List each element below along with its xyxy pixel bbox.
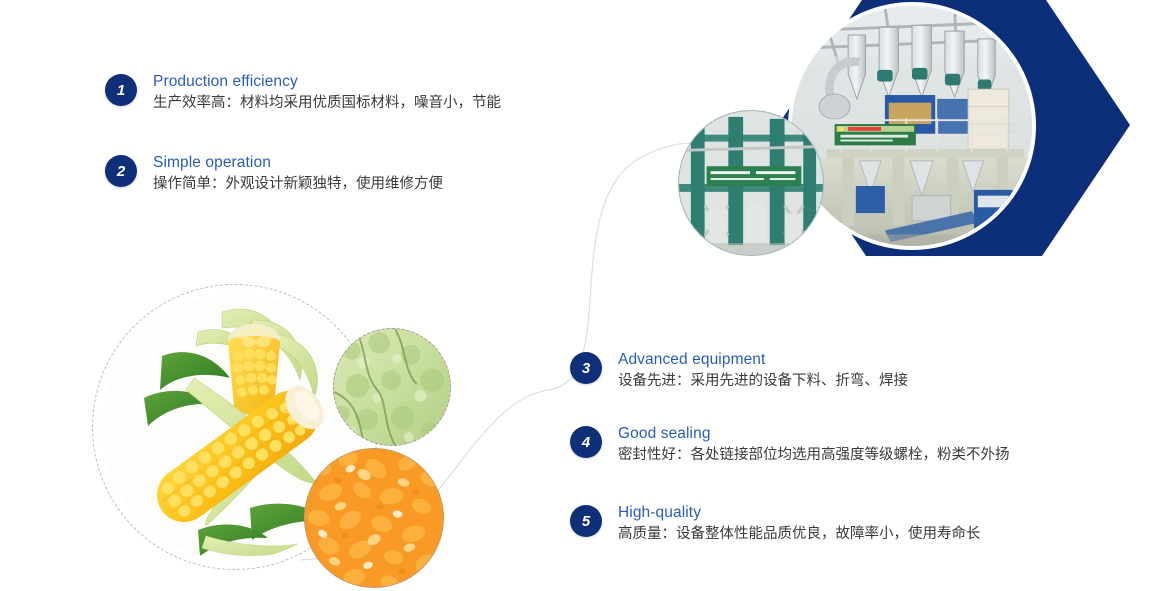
feature-title-4: Good sealing bbox=[618, 424, 1010, 444]
feature-badge-2: 2 bbox=[105, 155, 137, 187]
feature-desc-2: 操作简单：外观设计新颖独特，使用维修方便 bbox=[153, 173, 443, 195]
feature-infographic: 1 Production efficiency 生产效率高：材料均采用优质国标材… bbox=[0, 0, 1154, 591]
plant-photo-main-art bbox=[792, 6, 1032, 246]
feature-title-3: Advanced equipment bbox=[618, 350, 908, 370]
corn-image-group bbox=[88, 282, 488, 591]
feature-title-2: Simple operation bbox=[153, 153, 443, 173]
green-flour-photo bbox=[333, 328, 451, 446]
plant-photo-main bbox=[788, 2, 1036, 250]
corn-grits-photo bbox=[304, 448, 444, 588]
corn-grits-photo-art bbox=[305, 449, 443, 587]
feature-desc-1: 生产效率高：材料均采用优质国标材料，噪音小，节能 bbox=[153, 92, 501, 114]
feature-badge-3: 3 bbox=[570, 352, 602, 384]
hexagon-image-group bbox=[672, 0, 1154, 266]
feature-badge-5: 5 bbox=[570, 505, 602, 537]
feature-badge-4: 4 bbox=[570, 426, 602, 458]
feature-item-3[interactable]: 3 Advanced equipment 设备先进：采用先进的设备下料、折弯、焊… bbox=[570, 352, 908, 392]
feature-badge-1: 1 bbox=[105, 74, 137, 106]
plant-photo-secondary-art bbox=[679, 111, 823, 255]
feature-item-1[interactable]: 1 Production efficiency 生产效率高：材料均采用优质国标材… bbox=[105, 74, 501, 114]
feature-item-5[interactable]: 5 High-quality 高质量：设备整体性能品质优良，故障率小，使用寿命长 bbox=[570, 505, 981, 545]
green-flour-photo-art bbox=[334, 329, 450, 445]
feature-title-5: High-quality bbox=[618, 503, 981, 523]
feature-item-2[interactable]: 2 Simple operation 操作简单：外观设计新颖独特，使用维修方便 bbox=[105, 155, 443, 195]
feature-title-1: Production efficiency bbox=[153, 72, 501, 92]
feature-desc-4: 密封性好：各处链接部位均选用高强度等级螺栓，粉类不外扬 bbox=[618, 444, 1010, 466]
feature-desc-5: 高质量：设备整体性能品质优良，故障率小，使用寿命长 bbox=[618, 523, 981, 545]
feature-item-4[interactable]: 4 Good sealing 密封性好：各处链接部位均选用高强度等级螺栓，粉类不… bbox=[570, 426, 1010, 466]
plant-photo-secondary bbox=[678, 110, 824, 256]
feature-desc-3: 设备先进：采用先进的设备下料、折弯、焊接 bbox=[618, 370, 908, 392]
